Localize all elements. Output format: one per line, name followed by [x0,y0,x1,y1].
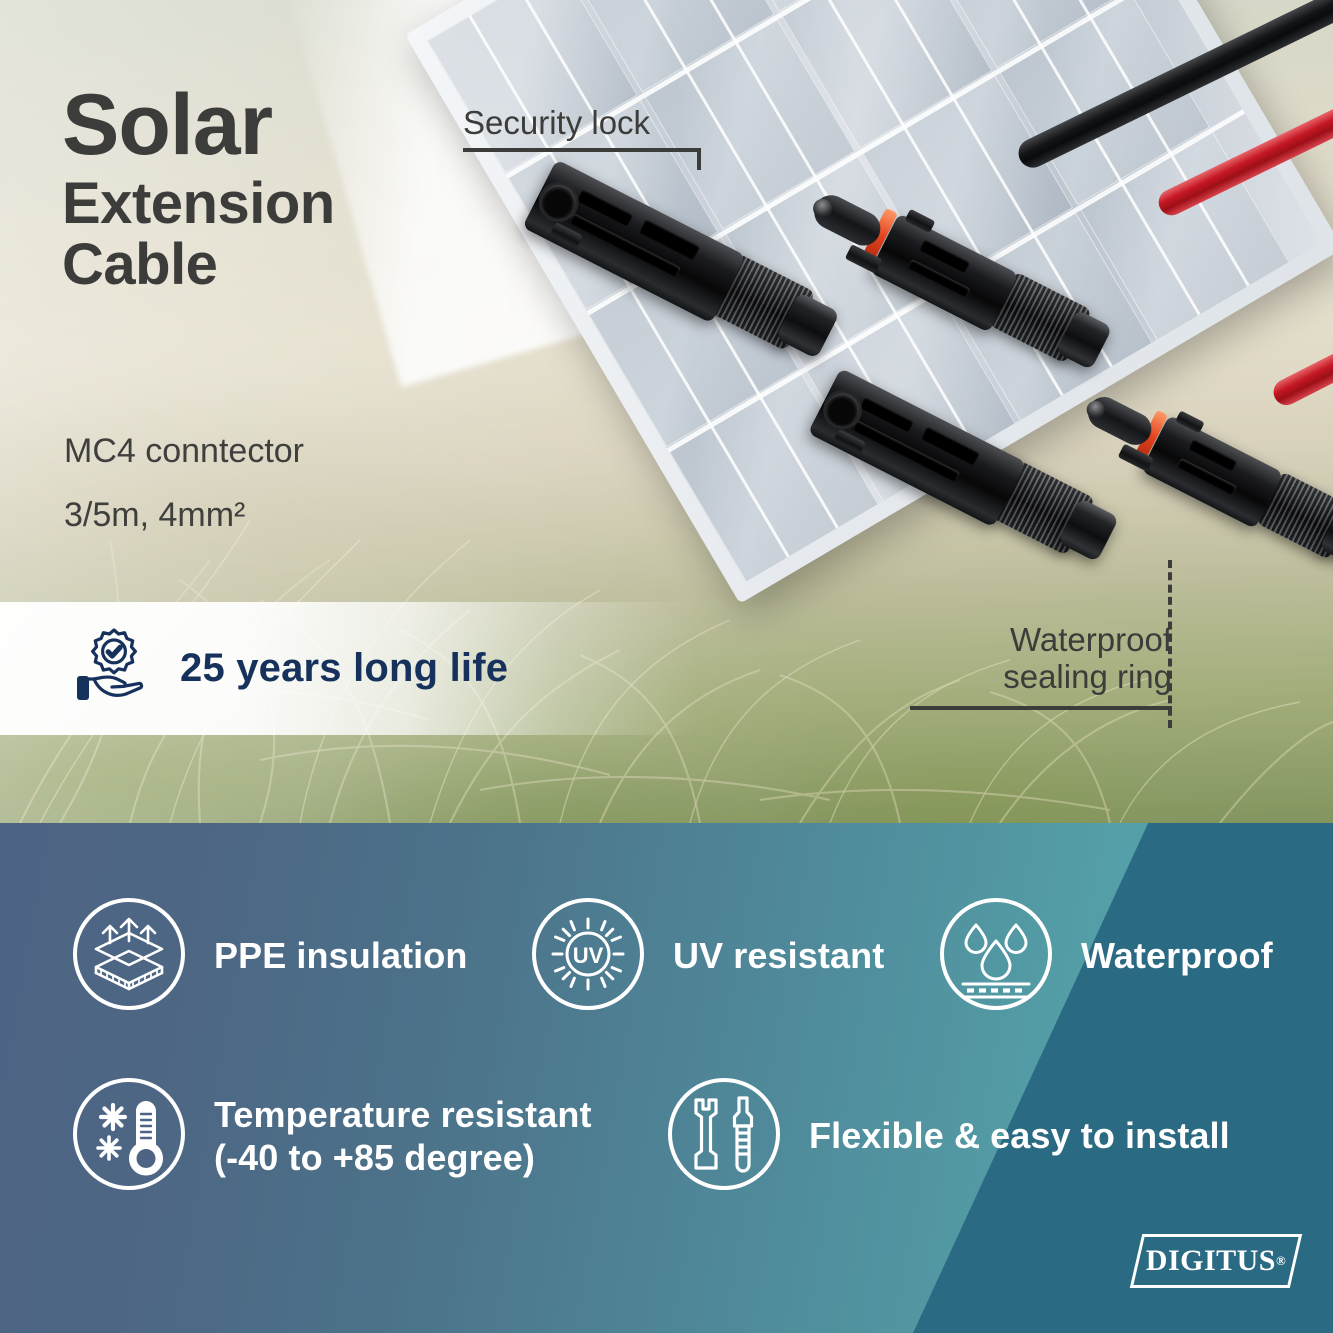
subtitle-length-gauge: 3/5m, 4mm² [64,498,304,532]
svg-text:UV: UV [573,943,604,968]
feature-waterproof: Waterproof [935,893,1273,1020]
wrench-screwdriver-icon [663,1073,785,1200]
water-droplets-icon [935,893,1057,1020]
logo-wordmark: DIGITUS® [1136,1234,1296,1288]
digitus-logo: DIGITUS® [1136,1234,1296,1288]
feature-flexible-easy-install-label: Flexible & easy to install [809,1115,1230,1157]
callout-security-lock-pointer [463,148,701,152]
feature-ppe-insulation-label: PPE insulation [214,935,467,977]
callout-waterproof-dashed-leader [1168,560,1172,728]
subtitle-block: MC4 conntector 3/5m, 4mm² [64,434,304,562]
callout-waterproof-label-line1: Waterproof [910,622,1172,659]
callout-waterproof-label-line2: sealing ring [910,659,1172,696]
title-line-solar: Solar [62,84,335,167]
page-title: Solar Extension Cable [62,84,335,295]
feature-uv-resistant: UV UV resistant [527,893,884,1020]
product-infographic: Solar Extension Cable MC4 conntector 3/5… [0,0,1333,1333]
snowflake-thermometer-icon [68,1073,190,1200]
warranty-badge-label: 25 years long life [180,646,508,691]
feature-waterproof-label: Waterproof [1081,935,1273,977]
callout-waterproof-pointer [910,706,1172,710]
logo-trademark: ® [1276,1253,1286,1269]
subtitle-connector: MC4 conntector [64,434,304,468]
feature-ppe-insulation: PPE insulation [68,893,467,1020]
title-line-extension: Extension [62,173,335,234]
uv-sun-icon: UV [527,893,649,1020]
callout-security-lock-label: Security lock [463,105,701,142]
layers-insulation-icon [68,893,190,1020]
warranty-hand-badge-icon [70,624,154,713]
feature-uv-resistant-label: UV resistant [673,935,884,977]
logo-brand-name: DIGITUS [1146,1244,1276,1278]
title-line-cable: Cable [62,234,335,295]
callout-waterproof-sealing-ring: Waterproof sealing ring [910,622,1172,710]
feature-flexible-easy-install: Flexible & easy to install [663,1073,1230,1200]
feature-temperature-resistant-label: Temperature resistant (-40 to +85 degree… [214,1094,592,1179]
warranty-badge: 25 years long life [0,602,698,735]
callout-security-lock: Security lock [463,105,701,152]
feature-temperature-resistant: Temperature resistant (-40 to +85 degree… [68,1073,592,1200]
